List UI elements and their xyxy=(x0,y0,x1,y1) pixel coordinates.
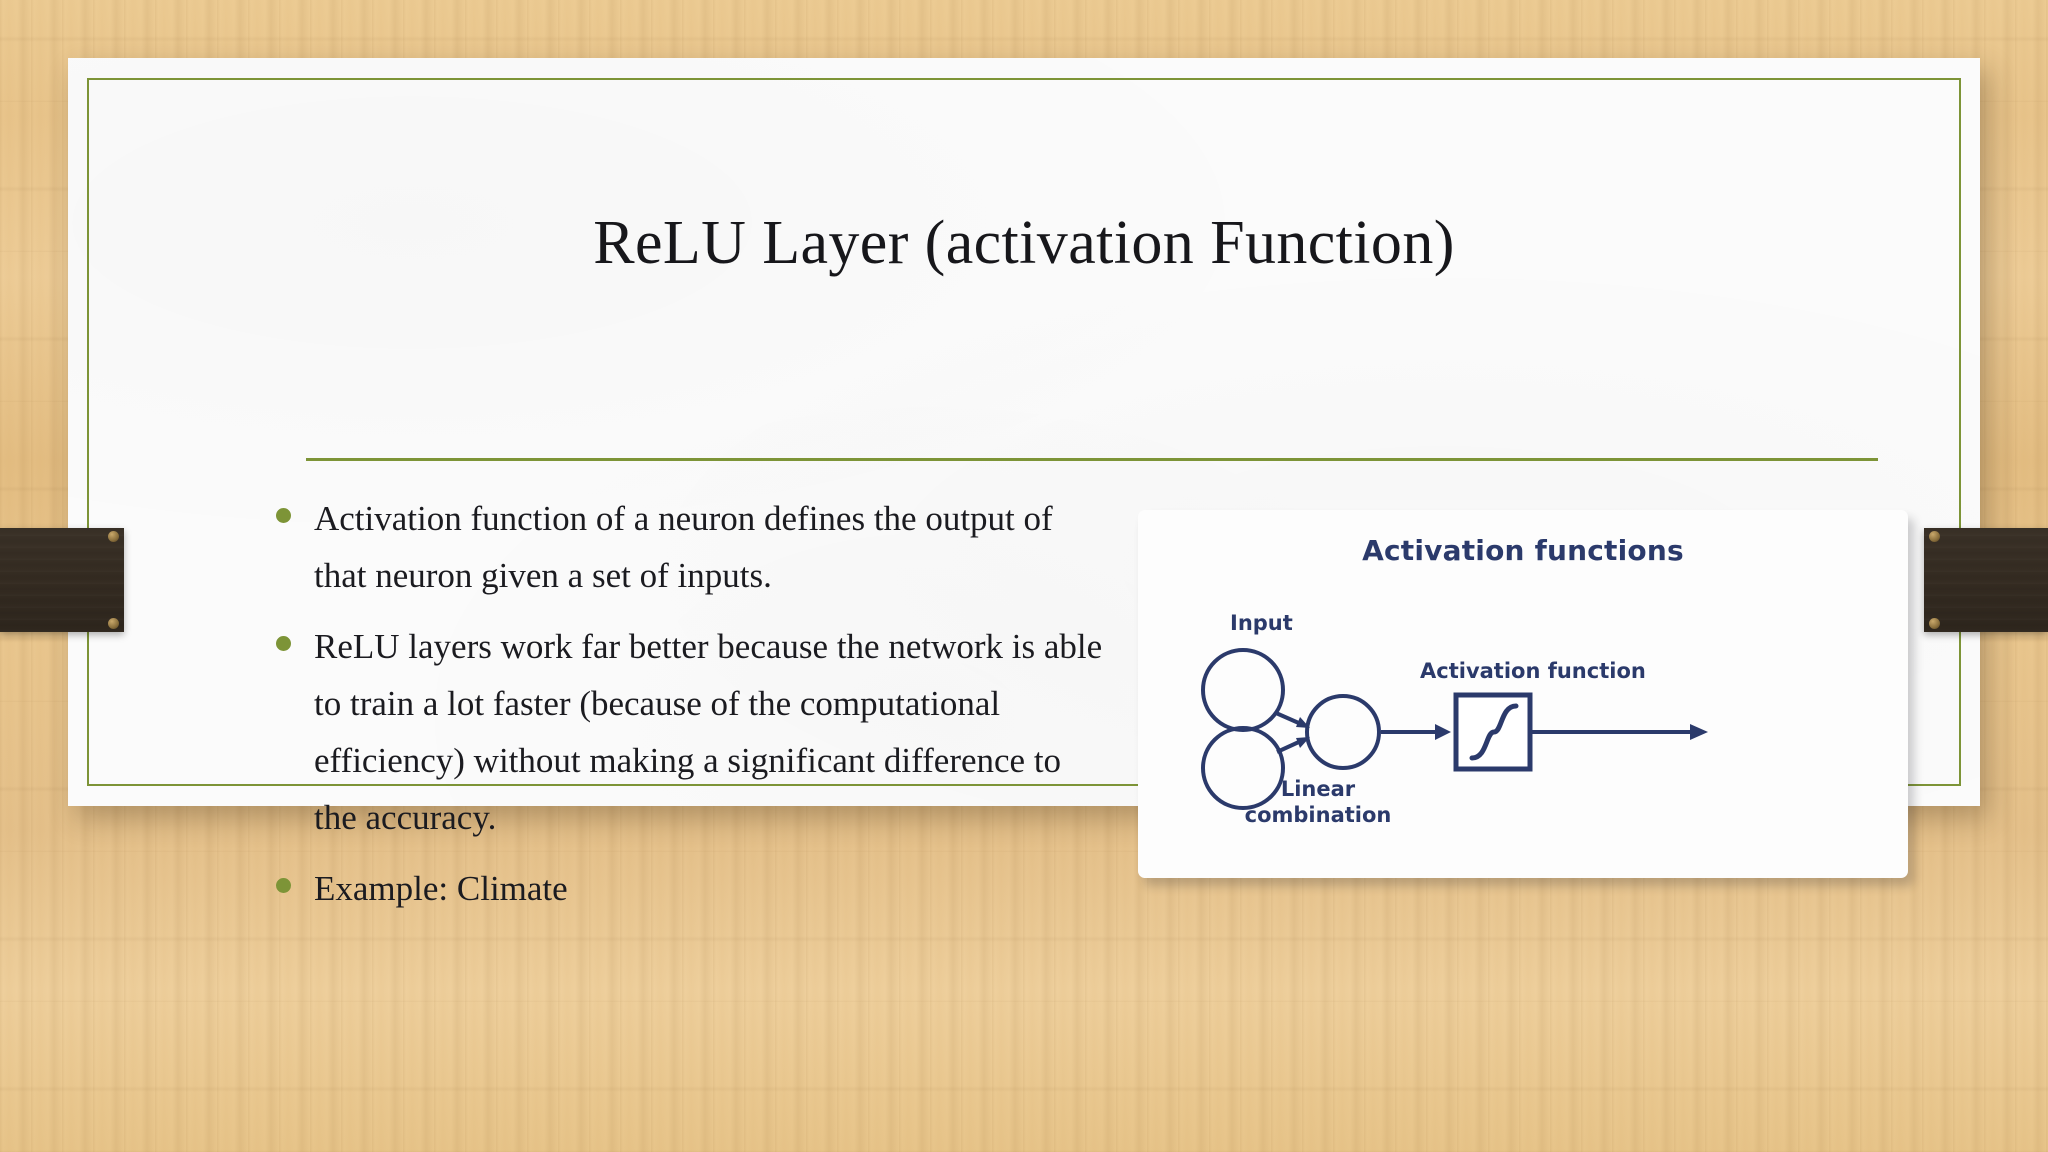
rivet-icon xyxy=(1929,531,1940,542)
bullet-dot-icon xyxy=(276,508,291,523)
input-neuron-top xyxy=(1203,650,1283,730)
bullet-list: Activation function of a neuron defines … xyxy=(276,490,1106,931)
input-neuron-bottom xyxy=(1203,728,1283,808)
input-label: Input xyxy=(1230,611,1293,635)
title-divider xyxy=(306,458,1878,461)
linear-combination-label-2: combination xyxy=(1245,803,1392,827)
bullet-text: ReLU layers work far better because the … xyxy=(314,618,1106,846)
slide-panel: ReLU Layer (activation Function) Activat… xyxy=(68,58,1980,806)
list-item: Example: Climate xyxy=(276,860,1106,917)
arrowhead-sum-to-activation xyxy=(1435,724,1451,740)
summation-neuron xyxy=(1307,696,1379,768)
list-item: Activation function of a neuron defines … xyxy=(276,490,1106,604)
presentation-backdrop: ReLU Layer (activation Function) Activat… xyxy=(0,0,2048,1152)
rivet-icon xyxy=(108,618,119,629)
linear-combination-label: Linear xyxy=(1281,777,1356,801)
activation-function-label: Activation function xyxy=(1420,659,1646,683)
clamp-band-left xyxy=(0,528,124,632)
rivet-icon xyxy=(1929,618,1940,629)
list-item: ReLU layers work far better because the … xyxy=(276,618,1106,846)
clamp-band-right xyxy=(1924,528,2048,632)
page-title: ReLU Layer (activation Function) xyxy=(68,208,1980,279)
rivet-icon xyxy=(108,531,119,542)
arrowhead-output xyxy=(1690,724,1708,740)
bullet-text: Example: Climate xyxy=(314,860,1106,917)
bullet-dot-icon xyxy=(276,878,291,893)
edge-top-to-sum xyxy=(1276,713,1301,724)
edge-bottom-to-sum xyxy=(1277,741,1301,752)
bullet-text: Activation function of a neuron defines … xyxy=(314,490,1106,604)
activation-functions-figure: Activation functions Input Activation fu… xyxy=(1138,510,1908,878)
bullet-dot-icon xyxy=(276,636,291,651)
neuron-activation-diagram: Input Activation function Linear combina… xyxy=(1138,510,1908,878)
